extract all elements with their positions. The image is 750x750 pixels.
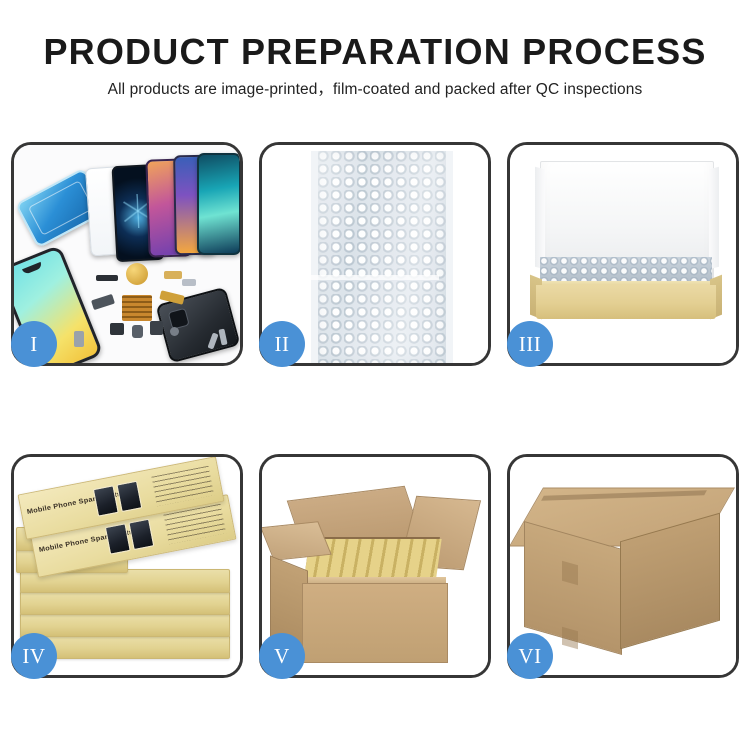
box-label-spec-lines xyxy=(152,466,215,507)
spare-part-icon xyxy=(122,295,152,321)
spare-part-icon xyxy=(150,321,163,335)
process-step-card-6[interactable]: VI xyxy=(507,454,739,678)
step-badge-4: IV xyxy=(11,633,57,679)
step-badge-1: I xyxy=(11,321,57,367)
step-badge-6: VI xyxy=(507,633,553,679)
page-title: PRODUCT PREPARATION PROCESS xyxy=(0,0,750,74)
bubble-wrap-icon xyxy=(311,151,453,363)
process-step-card-1[interactable]: I xyxy=(11,142,243,366)
spare-part-icon xyxy=(126,263,148,285)
spare-part-icon xyxy=(91,294,115,310)
process-step-card-3[interactable]: III xyxy=(507,142,739,366)
box-label-phone-icon xyxy=(128,519,154,550)
spare-part-icon xyxy=(182,279,196,286)
box-label-phone-icon xyxy=(116,481,142,512)
spare-part-icon xyxy=(74,331,84,347)
spare-part-icon xyxy=(132,325,143,338)
process-step-card-5[interactable]: V xyxy=(259,454,491,678)
step-badge-3: III xyxy=(507,321,553,367)
carton-hand-hole xyxy=(562,561,578,586)
stacked-box-slab xyxy=(20,613,230,637)
box-front-panel xyxy=(536,285,716,319)
bubble-wrap-seam xyxy=(311,275,439,280)
page-header: PRODUCT PREPARATION PROCESS All products… xyxy=(0,0,750,130)
step-badge-2: II xyxy=(259,321,305,367)
carton-front-panel xyxy=(302,583,448,663)
carton-hand-hole xyxy=(562,627,578,650)
teal-phone-icon xyxy=(197,153,240,255)
step-badge-5: V xyxy=(259,633,305,679)
stacked-box-slab xyxy=(20,591,230,615)
process-step-card-2[interactable]: II xyxy=(259,142,491,366)
spare-part-icon xyxy=(164,271,182,279)
spare-part-icon xyxy=(170,327,179,336)
spare-part-icon xyxy=(110,323,124,335)
spare-part-icon xyxy=(96,275,118,281)
page-subtitle: All products are image-printed，film-coat… xyxy=(0,74,750,100)
process-step-card-4[interactable]: Mobile Phone Spare Parts Mobile Phone Sp… xyxy=(11,454,243,678)
process-steps-grid: I II III xyxy=(11,142,739,740)
